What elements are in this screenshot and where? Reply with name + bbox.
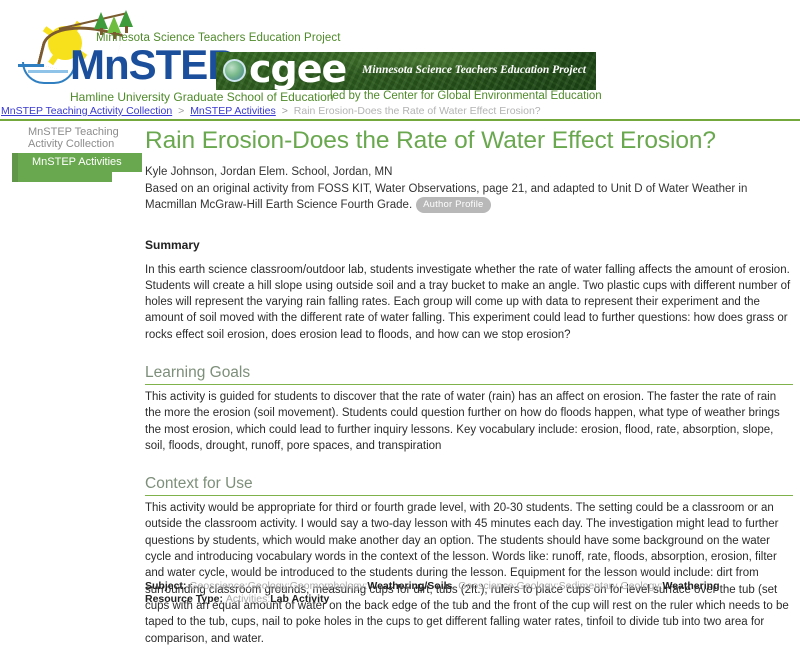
breadcrumb-separator: >: [175, 105, 187, 117]
breadcrumb: MnSTEP Teaching Activity Collection > Mn…: [0, 105, 800, 119]
cgee-wordmark: cgee: [249, 52, 346, 88]
section-body-context-for-use: This activity would be appropriate for t…: [145, 500, 793, 647]
site-header: Minnesota Science Teachers Education Pro…: [0, 0, 800, 104]
subject-path-2-prefix[interactable]: Geoscience:Geology:Sedimentary Geology:: [458, 580, 662, 592]
byline-author: Kyle Johnson, Jordan Elem. School, Jorda…: [145, 164, 793, 181]
sidebar-item-mnstep-activities[interactable]: MnSTEP Activities: [12, 153, 142, 172]
section-heading-context-for-use: Context for Use: [145, 474, 793, 496]
resource-type-label: Resource Type:: [145, 593, 223, 605]
section-body-summary: In this earth science classroom/outdoor …: [145, 262, 793, 343]
subject-path-1-term[interactable]: Weathering/Soils: [367, 580, 452, 592]
cgee-banner[interactable]: cgee Minnesota Science Teachers Educatio…: [216, 52, 596, 90]
logo-wordmark: MnSTEP: [70, 44, 234, 86]
subject-label: Subject:: [145, 580, 186, 592]
byline-source: Based on an original activity from FOSS …: [145, 181, 793, 214]
breadcrumb-separator: >: [279, 105, 291, 117]
author-profile-badge[interactable]: Author Profile: [416, 197, 490, 213]
tree-icon: [119, 10, 133, 27]
logo-tagline-bottom: Hamline University Graduate School of Ed…: [70, 90, 333, 104]
resource-type-prefix[interactable]: Activities:: [226, 593, 270, 605]
subject-path-1-prefix[interactable]: Geoscience:Geology:Geomorphology:: [189, 580, 367, 592]
section-heading-summary: Summary: [145, 238, 793, 252]
sidebar-footer-bar: [12, 172, 112, 182]
sidebar-title: MnSTEP Teaching Activity Collection: [12, 124, 142, 153]
main-content: Rain Erosion-Does the Rate of Water Effe…: [145, 126, 793, 647]
section-heading-learning-goals: Learning Goals: [145, 363, 793, 385]
page-title: Rain Erosion-Does the Rate of Water Effe…: [145, 126, 793, 156]
section-body-learning-goals: This activity is guided for students to …: [145, 389, 793, 454]
breadcrumb-item-activities[interactable]: MnSTEP Activities: [190, 105, 276, 117]
cgee-led-by-text: led by the Center for Global Environment…: [330, 90, 602, 102]
metadata-footer: Subject: Geoscience:Geology:Geomorpholog…: [145, 580, 795, 606]
subject-path-2-term[interactable]: Weathering: [663, 580, 720, 592]
resource-type-term[interactable]: Lab Activity: [270, 593, 329, 605]
globe-icon: [223, 59, 246, 82]
water-line-icon: [28, 70, 68, 73]
header-divider: [0, 119, 800, 121]
breadcrumb-item-collection[interactable]: MnSTEP Teaching Activity Collection: [1, 105, 172, 117]
cgee-banner-text: Minnesota Science Teachers Education Pro…: [362, 64, 586, 76]
tree-icon: [94, 12, 108, 29]
water-line-icon: [18, 64, 44, 67]
breadcrumb-item-current: Rain Erosion-Does the Rate of Water Effe…: [294, 105, 541, 117]
sidebar: MnSTEP Teaching Activity Collection MnST…: [12, 124, 142, 182]
metadata-row-subject: Subject: Geoscience:Geology:Geomorpholog…: [145, 580, 795, 593]
